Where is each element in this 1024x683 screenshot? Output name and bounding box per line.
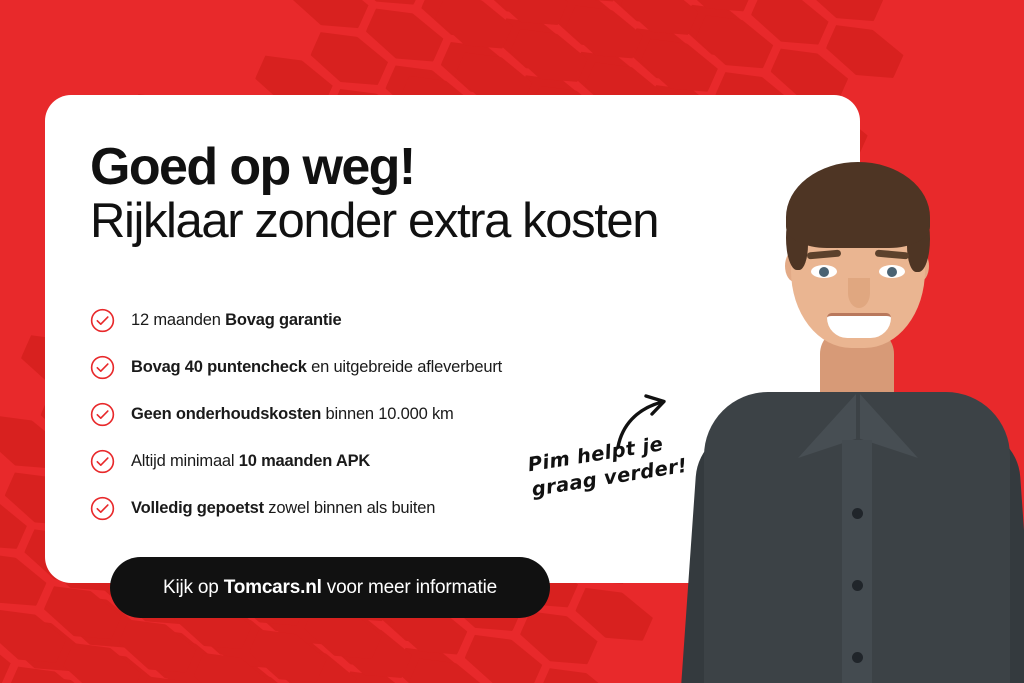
tread-chevron — [560, 0, 647, 70]
shirt-button — [852, 652, 863, 663]
list-item: Bovag 40 puntencheck en uitgebreide afle… — [90, 344, 730, 391]
tread-chevron — [58, 633, 145, 683]
tread-chevron — [263, 677, 350, 683]
tread-chevron — [491, 9, 578, 83]
tread-chevron — [690, 6, 777, 80]
list-item: 12 maanden Bovag garantie — [90, 297, 730, 344]
hair — [786, 162, 930, 248]
nose — [848, 278, 870, 308]
tread-chevron — [335, 662, 422, 683]
tread-chevron — [459, 625, 546, 683]
tread-chevron — [746, 0, 833, 56]
check-circle-icon — [90, 402, 115, 427]
tread-chevron — [570, 578, 657, 652]
tread-chevron — [635, 29, 722, 103]
tread-chevron — [485, 0, 572, 36]
tread-chevron — [505, 19, 592, 93]
tread-chevron — [546, 0, 633, 59]
tread-chevron — [671, 0, 758, 23]
tread-chevron — [219, 662, 306, 683]
tread-chevron — [471, 0, 558, 26]
feature-text: 12 maanden Bovag garantie — [131, 311, 342, 330]
tread-chevron — [205, 652, 292, 683]
headline-primary: Goed op weg! — [90, 140, 790, 194]
cta-label: Kijk op Tomcars.nl voor meer informatie — [163, 577, 497, 599]
eye-left — [811, 265, 837, 278]
tread-chevron — [0, 624, 15, 683]
tread-chevron — [801, 0, 888, 33]
tread-chevron — [349, 672, 436, 683]
tread-chevron — [114, 610, 201, 683]
tread-chevron — [149, 675, 236, 683]
tread-chevron — [133, 667, 220, 683]
tread-chevron — [602, 0, 689, 36]
tread-chevron — [430, 0, 517, 60]
tread-chevron — [527, 0, 614, 2]
tread-chevron — [534, 659, 621, 683]
tread-chevron — [144, 629, 231, 683]
tread-chevron — [19, 666, 106, 683]
tread-chevron — [305, 22, 392, 96]
tread-chevron — [0, 543, 51, 617]
tread-chevron — [244, 620, 331, 683]
tread-chevron — [260, 628, 347, 683]
tread-chevron — [341, 0, 428, 16]
tread-chevron — [677, 0, 764, 69]
check-circle-icon — [90, 308, 115, 333]
tread-chevron — [274, 639, 361, 683]
tread-chevron — [541, 0, 628, 13]
check-circle-icon — [90, 449, 115, 474]
tread-chevron — [621, 19, 708, 93]
check-circle-icon — [90, 355, 115, 380]
tread-chevron — [188, 643, 275, 683]
check-circle-icon — [90, 496, 115, 521]
shirt-placket — [842, 440, 872, 683]
tread-chevron — [390, 638, 477, 683]
tread-chevron — [286, 0, 373, 40]
smiling-mouth — [827, 313, 891, 338]
feature-text: Bovag 40 puntencheck en uitgebreide afle… — [131, 358, 502, 377]
feature-text: Altijd minimaal 10 maanden APK — [131, 452, 370, 471]
list-item: Volledig gepoetst zowel binnen als buite… — [90, 485, 730, 532]
tread-chevron — [130, 619, 217, 683]
tread-chevron — [404, 649, 491, 683]
shirt-button — [852, 580, 863, 591]
tread-chevron — [329, 615, 416, 683]
tread-chevron — [416, 0, 503, 49]
tread-chevron — [657, 0, 744, 12]
feature-text: Volledig gepoetst zowel binnen als buite… — [131, 499, 435, 518]
tread-chevron — [361, 0, 448, 73]
tread-chevron — [616, 0, 703, 46]
promo-banner: Goed op weg! Rijklaar zonder extra koste… — [0, 0, 1024, 683]
tread-chevron — [0, 486, 31, 560]
headline-secondary: Rijklaar zonder extra kosten — [90, 194, 790, 249]
tread-chevron — [0, 609, 87, 683]
shirt-button — [852, 508, 863, 519]
tread-chevron — [3, 657, 90, 683]
tread-chevron — [0, 600, 70, 674]
eye-right — [879, 265, 905, 278]
cta-button[interactable]: Kijk op Tomcars.nl voor meer informatie — [110, 557, 550, 618]
tread-chevron — [74, 642, 161, 683]
tread-chevron — [857, 0, 944, 9]
headline-block: Goed op weg! Rijklaar zonder extra koste… — [90, 140, 790, 249]
tread-chevron — [821, 15, 908, 89]
feature-text: Geen onderhoudskosten binnen 10.000 km — [131, 405, 454, 424]
